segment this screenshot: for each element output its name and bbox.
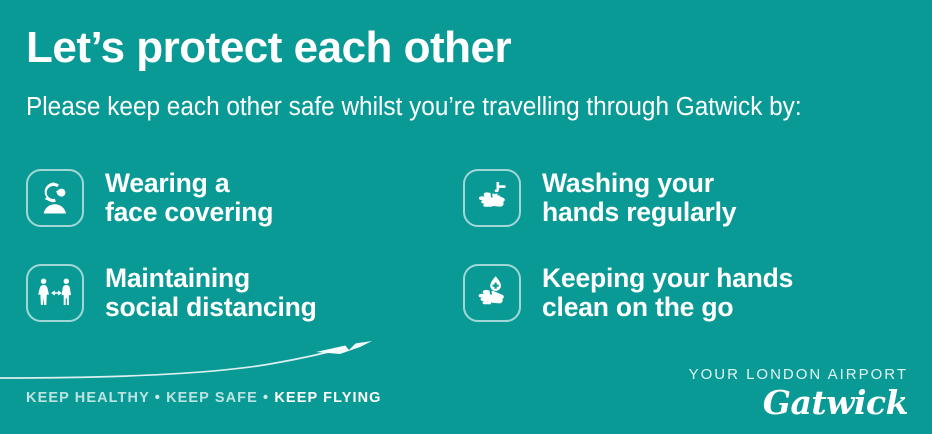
feature-hand-sanitiser: Keeping your hands clean on the go xyxy=(463,245,900,340)
safety-measures-grid: Wearing a face covering xyxy=(26,150,906,340)
feature-social-distancing: Maintaining social distancing xyxy=(26,245,463,340)
brand-strapline: YOUR LONDON AIRPORT xyxy=(689,366,908,383)
feature-label-line1: Maintaining xyxy=(105,263,250,293)
feature-label-line2: hands regularly xyxy=(542,198,736,227)
gatwick-logo: Gatwick xyxy=(689,385,908,421)
feature-hand-washing: Washing your hands regularly xyxy=(463,150,900,245)
tagline-keep-healthy: KEEP HEALTHY xyxy=(26,390,150,406)
page-title: Let’s protect each other xyxy=(26,22,511,74)
tagline-separator-1: • xyxy=(155,390,161,406)
tagline-separator-2: • xyxy=(263,390,269,406)
feature-label-line2: face covering xyxy=(105,198,273,227)
campaign-tagline: KEEP HEALTHY • KEEP SAFE • KEEP FLYING xyxy=(26,390,382,406)
page-subtitle: Please keep each other safe whilst you’r… xyxy=(26,92,802,122)
feature-face-covering: Wearing a face covering xyxy=(26,150,463,245)
hand-sanitiser-icon xyxy=(463,264,521,322)
feature-label: Wearing a face covering xyxy=(105,169,273,227)
tagline-keep-flying: KEEP FLYING xyxy=(274,390,381,406)
feature-label-line1: Washing your xyxy=(542,168,714,198)
tagline-keep-safe: KEEP SAFE xyxy=(166,390,258,406)
feature-label-line2: social distancing xyxy=(105,293,317,322)
feature-label: Washing your hands regularly xyxy=(542,169,736,227)
feature-label-line1: Wearing a xyxy=(105,168,229,198)
social-distancing-icon xyxy=(26,264,84,322)
gatwick-safety-poster: Let’s protect each other Please keep eac… xyxy=(0,0,932,434)
plane-trail-graphic xyxy=(0,340,420,386)
feature-row-top: Wearing a face covering xyxy=(26,150,906,245)
feature-label: Keeping your hands clean on the go xyxy=(542,264,793,322)
brand-lockup: YOUR LONDON AIRPORT Gatwick xyxy=(689,366,908,421)
feature-label: Maintaining social distancing xyxy=(105,264,317,322)
feature-label-line1: Keeping your hands xyxy=(542,263,793,293)
feature-row-bottom: Maintaining social distancing xyxy=(26,245,906,340)
face-mask-icon xyxy=(26,169,84,227)
feature-label-line2: clean on the go xyxy=(542,293,793,322)
hand-washing-tap-icon xyxy=(463,169,521,227)
